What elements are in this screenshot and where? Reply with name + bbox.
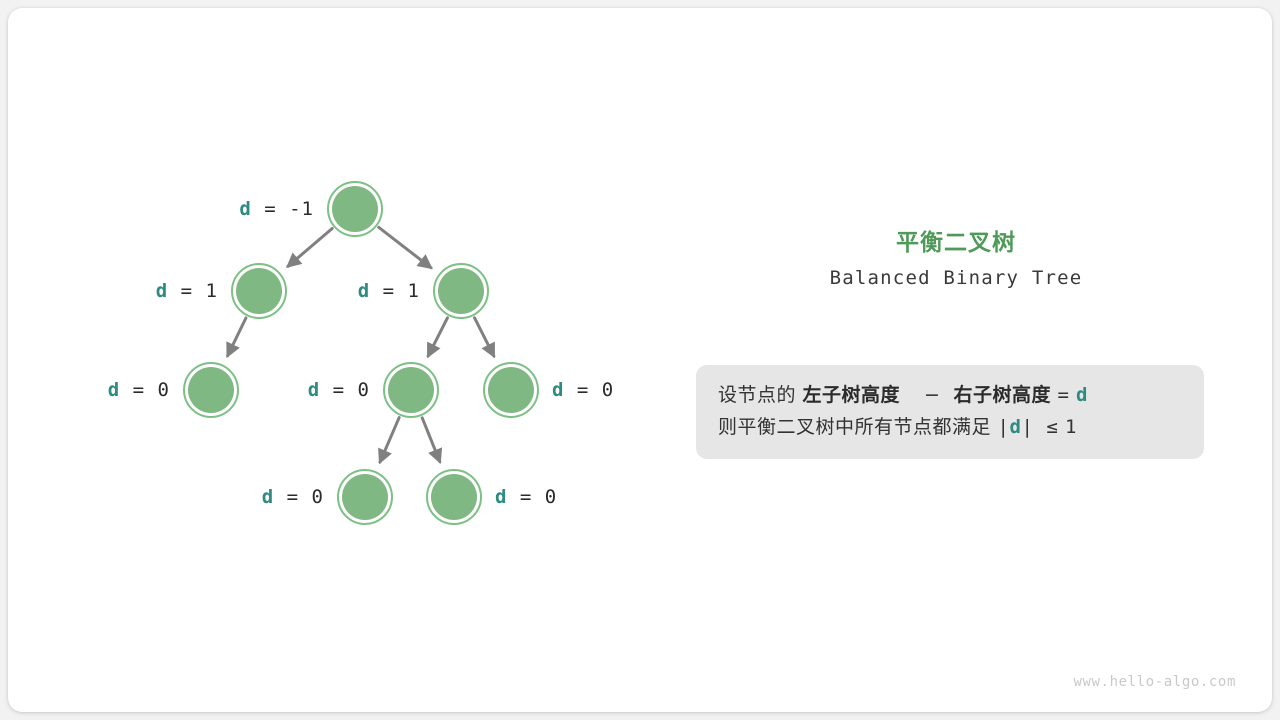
node-balance-label: d = 0 <box>108 379 170 401</box>
diagram-card: d = -1d = 1d = 1d = 0d = 0d = 0d = 0d = … <box>8 8 1272 712</box>
tree-node-fill <box>342 474 388 520</box>
tree-node-fill <box>236 268 282 314</box>
node-label-value: = 0 <box>320 379 370 401</box>
tree-node[interactable] <box>484 363 538 417</box>
node-label-value: = 1 <box>370 280 420 302</box>
tree-edge <box>428 318 447 356</box>
page-title: 平衡二叉树 <box>696 223 1216 257</box>
definition-variable-d: d <box>1076 384 1088 406</box>
page-subtitle: Balanced Binary Tree <box>696 267 1216 289</box>
abs-bar-close: | <box>1021 416 1033 438</box>
constraint-prefix: 则平衡二叉树中所有节点都满足 <box>718 416 998 438</box>
definition-equals: = <box>1058 384 1070 406</box>
definition-minus: − <box>924 384 940 406</box>
constraint-variable-d: d <box>1010 416 1022 438</box>
node-label-variable: d <box>156 280 168 302</box>
tree-node-fill <box>431 474 477 520</box>
tree-node[interactable] <box>384 363 438 417</box>
node-label-variable: d <box>308 379 320 401</box>
constraint-comparator: ≤ <box>1047 416 1059 438</box>
tree-node-layer <box>184 182 538 524</box>
tree-edge <box>228 318 246 356</box>
node-balance-label: d = 0 <box>308 379 370 401</box>
tree-edge <box>475 318 494 356</box>
node-balance-label: d = 0 <box>552 379 614 401</box>
tree-edge <box>288 228 332 266</box>
node-label-variable: d <box>552 379 564 401</box>
node-label-value: = -1 <box>252 198 314 220</box>
node-balance-label: d = -1 <box>239 198 314 220</box>
tree-node[interactable] <box>328 182 382 236</box>
node-label-value: = 0 <box>564 379 614 401</box>
node-label-variable: d <box>108 379 120 401</box>
node-label-value: = 0 <box>507 486 557 508</box>
tree-node-fill <box>488 367 534 413</box>
tree-edge <box>380 418 399 463</box>
tree-node[interactable] <box>434 264 488 318</box>
watermark: www.hello-algo.com <box>1073 674 1236 690</box>
abs-bar-open: | <box>998 416 1010 438</box>
tree-node[interactable] <box>184 363 238 417</box>
binary-tree-graphic <box>8 8 1272 712</box>
node-label-variable: d <box>495 486 507 508</box>
definition-prefix: 设节点的 <box>718 384 803 406</box>
definition-operator <box>900 384 924 406</box>
node-label-variable: d <box>358 280 370 302</box>
node-balance-label: d = 1 <box>358 280 420 302</box>
tree-node[interactable] <box>338 470 392 524</box>
tree-node-fill <box>332 186 378 232</box>
tree-edge <box>379 227 431 267</box>
node-balance-label: d = 1 <box>156 280 218 302</box>
node-label-value: = 1 <box>168 280 218 302</box>
node-label-value: = 0 <box>274 486 324 508</box>
node-balance-label: d = 0 <box>262 486 324 508</box>
constraint-value: 1 <box>1065 416 1077 438</box>
constraint-spacer-1 <box>1033 416 1046 438</box>
definition-term-left: 左子树高度 <box>803 384 901 406</box>
node-label-variable: d <box>262 486 274 508</box>
definition-spacer-1 <box>940 384 953 406</box>
definition-line-2: 则平衡二叉树中所有节点都满足 |d| ≤ 1 <box>718 411 1182 443</box>
node-label-variable: d <box>239 198 251 220</box>
tree-node[interactable] <box>427 470 481 524</box>
tree-node-fill <box>188 367 234 413</box>
node-label-value: = 0 <box>120 379 170 401</box>
definition-line-1: 设节点的 左子树高度 − 右子树高度 = d <box>718 379 1182 411</box>
tree-node-fill <box>388 367 434 413</box>
tree-edge-layer <box>228 227 494 462</box>
tree-node[interactable] <box>232 264 286 318</box>
diagram-stage: d = -1d = 1d = 1d = 0d = 0d = 0d = 0d = … <box>8 8 1272 712</box>
tree-node-fill <box>438 268 484 314</box>
info-panel: 平衡二叉树 Balanced Binary Tree <box>696 223 1216 289</box>
node-balance-label: d = 0 <box>495 486 557 508</box>
definition-term-right: 右子树高度 <box>953 384 1051 406</box>
definition-box: 设节点的 左子树高度 − 右子树高度 = d 则平衡二叉树中所有节点都满足 |d… <box>696 365 1204 459</box>
tree-edge <box>422 418 440 462</box>
